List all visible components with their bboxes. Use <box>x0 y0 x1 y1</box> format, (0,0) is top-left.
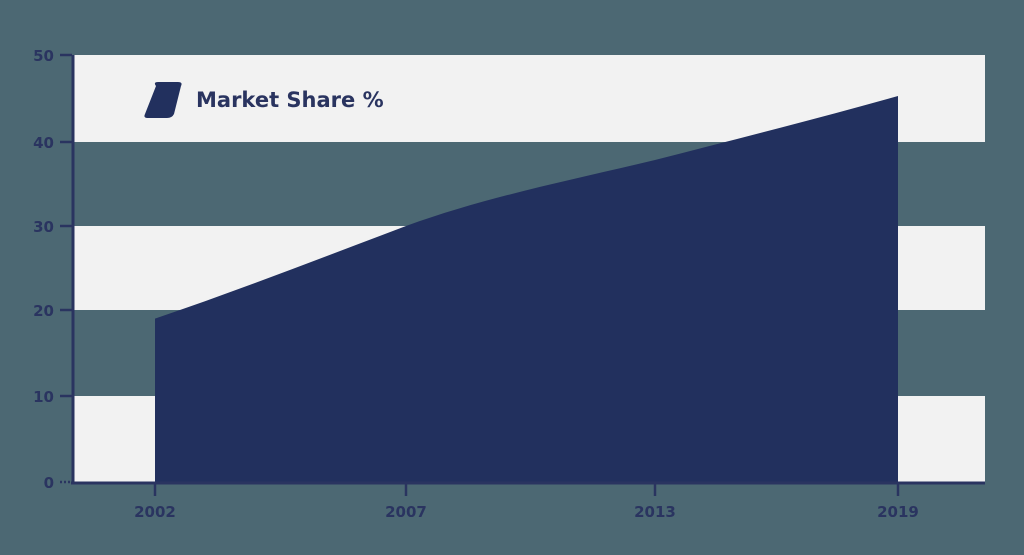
x-tick-label-2013: 2013 <box>634 503 676 521</box>
legend-label: Market Share % <box>196 88 384 112</box>
y-tick-label-40: 40 <box>33 134 54 152</box>
series-market-share <box>155 96 898 482</box>
y-axis-ticks: 50 40 30 20 10 0 <box>33 47 72 492</box>
area-chart: 50 40 30 20 10 0 2002 2007 2013 2019 Mar… <box>0 0 1024 555</box>
x-tick-label-2019: 2019 <box>877 503 919 521</box>
y-tick-label-0: 0 <box>44 474 54 492</box>
y-tick-label-20: 20 <box>33 302 54 320</box>
chart-canvas: 50 40 30 20 10 0 2002 2007 2013 2019 Mar… <box>0 0 1024 555</box>
x-axis-ticks: 2002 2007 2013 2019 <box>134 484 919 521</box>
y-tick-label-10: 10 <box>33 388 54 406</box>
x-tick-label-2002: 2002 <box>134 503 176 521</box>
y-tick-label-30: 30 <box>33 218 54 236</box>
y-tick-label-50: 50 <box>33 47 54 65</box>
x-tick-label-2007: 2007 <box>385 503 427 521</box>
area-path <box>155 96 898 482</box>
